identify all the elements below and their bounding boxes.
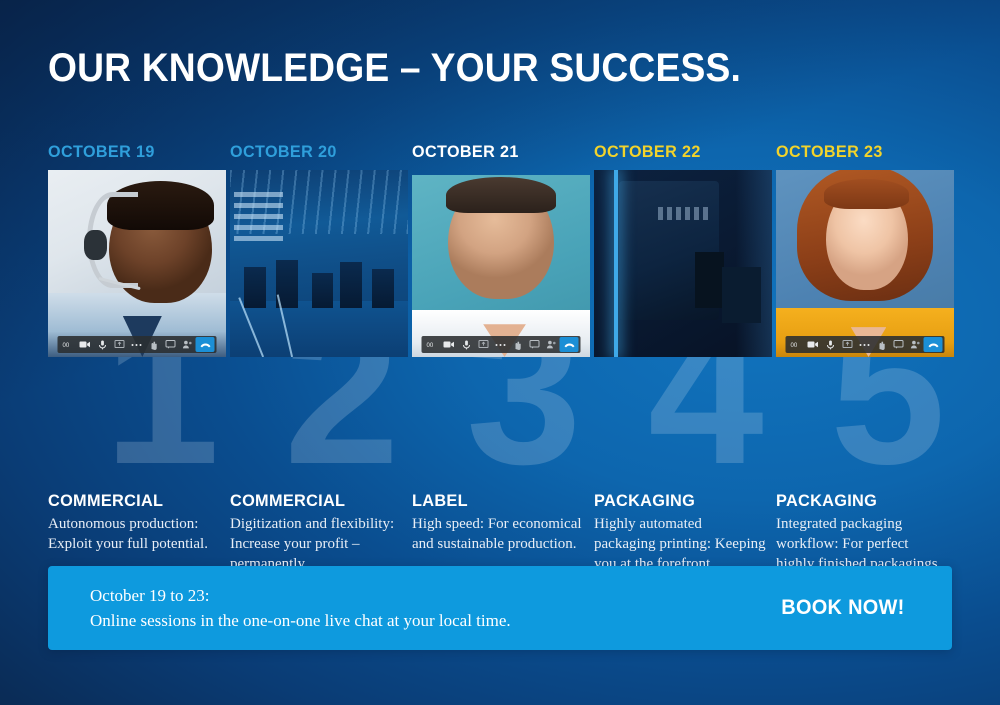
card-heading-5: PACKAGING (776, 491, 949, 511)
session-card-4[interactable]: OCTOBER 22 PACKAGING Highly automated pa… (594, 143, 772, 357)
card-date-1: OCTOBER 19 (48, 143, 217, 161)
card-heading-4: PACKAGING (594, 491, 767, 511)
chat-icon[interactable] (162, 337, 179, 352)
session-card-5[interactable]: OCTOBER 23 00 P (776, 143, 954, 357)
more-options-icon[interactable] (128, 337, 145, 352)
card-thumbnail-1[interactable]: 00 (48, 170, 226, 357)
card-date-3: OCTOBER 21 (412, 143, 581, 161)
svg-text:00: 00 (63, 343, 70, 349)
cta-line-2: Online sessions in the one-on-one live c… (90, 608, 511, 633)
card-body-5: Integrated packaging workflow: For perfe… (776, 514, 948, 574)
card-heading-1: COMMERCIAL (48, 491, 221, 511)
more-options-icon[interactable] (492, 337, 509, 352)
photo-printing-press (594, 170, 772, 357)
microphone-icon[interactable] (94, 337, 111, 352)
session-card-2[interactable]: OCTOBER 20 COMMERCIAL Digitization and f… (230, 143, 408, 357)
card-thumbnail-3[interactable]: 00 (412, 175, 590, 357)
svg-text:00: 00 (427, 343, 434, 349)
present-screen-icon[interactable] (111, 337, 128, 352)
end-call-icon[interactable] (560, 337, 579, 352)
photo-industrial-print-hall (230, 170, 408, 357)
card-body-3: High speed: For economical and sustainab… (412, 514, 584, 554)
svg-text:00: 00 (791, 343, 798, 349)
video-call-toolbar-3[interactable]: 00 (422, 336, 581, 353)
raise-hand-icon[interactable] (509, 337, 526, 352)
card-text-3: LABEL High speed: For economical and sus… (412, 491, 592, 554)
card-thumbnail-2[interactable] (230, 170, 408, 357)
cta-text: October 19 to 23: Online sessions in the… (90, 583, 511, 633)
card-text-2: COMMERCIAL Digitization and flexibility:… (230, 491, 410, 574)
card-body-4: Highly automated packaging printing: Kee… (594, 514, 766, 574)
video-call-toolbar-1[interactable]: 00 (58, 336, 217, 353)
photo-man-with-headset (48, 170, 226, 357)
card-heading-3: LABEL (412, 491, 585, 511)
present-screen-icon[interactable] (475, 337, 492, 352)
timer-icon[interactable]: 00 (424, 337, 441, 352)
timer-icon[interactable]: 00 (60, 337, 77, 352)
chat-icon[interactable] (890, 337, 907, 352)
session-card-1[interactable]: OCTOBER 19 00 C (48, 143, 226, 357)
camera-icon[interactable] (441, 337, 458, 352)
photo-woman-yellow-top (776, 170, 954, 357)
raise-hand-icon[interactable] (145, 337, 162, 352)
participants-icon[interactable] (543, 337, 560, 352)
present-screen-icon[interactable] (839, 337, 856, 352)
more-options-icon[interactable] (856, 337, 873, 352)
chat-icon[interactable] (526, 337, 543, 352)
card-date-4: OCTOBER 22 (594, 143, 763, 161)
card-body-2: Digitization and flexibility: Increase y… (230, 514, 402, 574)
end-call-icon[interactable] (196, 337, 215, 352)
card-date-5: OCTOBER 23 (776, 143, 945, 161)
promo-banner: OUR KNOWLEDGE – YOUR SUCCESS. 1 2 3 4 5 … (0, 0, 1000, 705)
participants-icon[interactable] (179, 337, 196, 352)
card-heading-2: COMMERCIAL (230, 491, 403, 511)
session-card-3[interactable]: OCTOBER 21 00 LABEL (412, 143, 590, 357)
photo-man-white-shirt (412, 175, 590, 357)
session-card-grid: OCTOBER 19 00 C (48, 143, 952, 513)
card-date-2: OCTOBER 20 (230, 143, 399, 161)
raise-hand-icon[interactable] (873, 337, 890, 352)
card-text-5: PACKAGING Integrated packaging workflow:… (776, 491, 956, 574)
microphone-icon[interactable] (458, 337, 475, 352)
participants-icon[interactable] (907, 337, 924, 352)
book-now-button[interactable]: BOOK NOW! (781, 596, 904, 620)
video-call-toolbar-5[interactable]: 00 (786, 336, 945, 353)
camera-icon[interactable] (77, 337, 94, 352)
card-body-1: Autonomous production: Exploit your full… (48, 514, 220, 554)
end-call-icon[interactable] (924, 337, 943, 352)
camera-icon[interactable] (805, 337, 822, 352)
card-thumbnail-5[interactable]: 00 (776, 170, 954, 357)
microphone-icon[interactable] (822, 337, 839, 352)
card-text-1: COMMERCIAL Autonomous production: Exploi… (48, 491, 228, 554)
card-text-4: PACKAGING Highly automated packaging pri… (594, 491, 774, 574)
page-title: OUR KNOWLEDGE – YOUR SUCCESS. (48, 46, 741, 91)
cta-line-1: October 19 to 23: (90, 583, 511, 608)
timer-icon[interactable]: 00 (788, 337, 805, 352)
cta-banner[interactable]: October 19 to 23: Online sessions in the… (48, 566, 952, 650)
card-thumbnail-4[interactable] (594, 170, 772, 357)
